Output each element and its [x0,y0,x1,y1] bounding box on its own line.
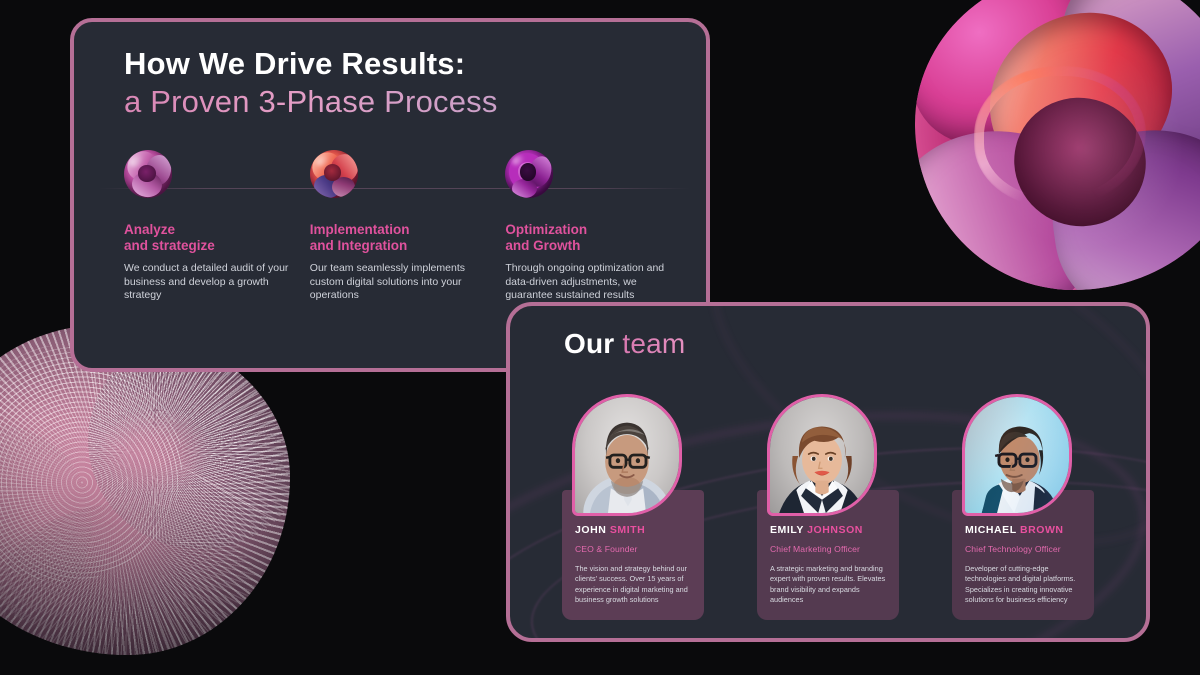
team-member-card[interactable]: JOHN SMITH CEO & Founder The vision and … [562,394,704,620]
team-panel: Our team [506,302,1150,642]
member-first-name: JOHN [575,524,606,536]
phase-title-line1: Optimization [505,222,587,237]
abstract-3d-swirl-top-right [900,0,1200,310]
phase-title-line1: Analyze [124,222,175,237]
member-last-name: JOHNSON [807,524,863,536]
slide-canvas: How We Drive Results: a Proven 3-Phase P… [0,0,1200,675]
team-title-word2: team [622,328,685,359]
phase-item-optimization[interactable]: Optimization and Growth Through ongoing … [505,150,696,303]
member-name: EMILY JOHNSON [770,524,887,536]
member-bio: A strategic marketing and branding exper… [770,564,887,606]
phase-title: Optimization and Growth [505,222,696,253]
member-role: Chief Marketing Officer [770,544,887,554]
swirl-sphere-red-icon [310,150,358,198]
headline-line-1: How We Drive Results: [124,46,498,82]
avatar [572,394,682,516]
phase-title: Implementation and Integration [310,222,506,253]
member-first-name: MICHAEL [965,524,1017,536]
avatar [767,394,877,516]
phase-title-line2: and Growth [505,238,580,253]
headline-line-2: a Proven 3-Phase Process [124,82,498,122]
member-last-name: SMITH [610,524,645,536]
member-name: MICHAEL BROWN [965,524,1082,536]
member-name: JOHN SMITH [575,524,692,536]
phase-title-line2: and Integration [310,238,408,253]
phase-item-implementation[interactable]: Implementation and Integration Our team … [310,150,506,303]
portrait-man-glasses-beard [572,394,682,516]
phase-description: Our team seamlessly implements custom di… [310,262,485,303]
phase-title-line2: and strategize [124,238,215,253]
member-bio: The vision and strategy behind our clien… [575,564,692,606]
portrait-man-glasses-side [962,394,1072,516]
portrait-woman-short-hair [767,394,877,516]
phase-title: Analyze and strategize [124,222,310,253]
phase-description: We conduct a detailed audit of your busi… [124,262,299,303]
member-last-name: BROWN [1020,524,1064,536]
team-member-card[interactable]: EMILY JOHNSON Chief Marketing Officer A … [757,394,899,620]
member-role: CEO & Founder [575,544,692,554]
team-title-word1: Our [564,328,614,359]
team-card-list: JOHN SMITH CEO & Founder The vision and … [562,394,1094,620]
phase-description: Through ongoing optimization and data-dr… [505,262,680,303]
team-title: Our team [564,328,685,360]
member-first-name: EMILY [770,524,804,536]
process-headline: How We Drive Results: a Proven 3-Phase P… [124,46,498,122]
team-member-card[interactable]: MICHAEL BROWN Chief Technology Officer D… [952,394,1094,620]
phase-title-line1: Implementation [310,222,410,237]
phase-item-analyze[interactable]: Analyze and strategize We conduct a deta… [124,150,310,303]
phase-list: Analyze and strategize We conduct a deta… [124,150,696,303]
swirl-ring-purple-icon [505,150,553,198]
avatar [962,394,1072,516]
swirl-sphere-magenta-icon [124,150,172,198]
member-role: Chief Technology Officer [965,544,1082,554]
member-bio: Developer of cutting-edge technologies a… [965,564,1082,606]
